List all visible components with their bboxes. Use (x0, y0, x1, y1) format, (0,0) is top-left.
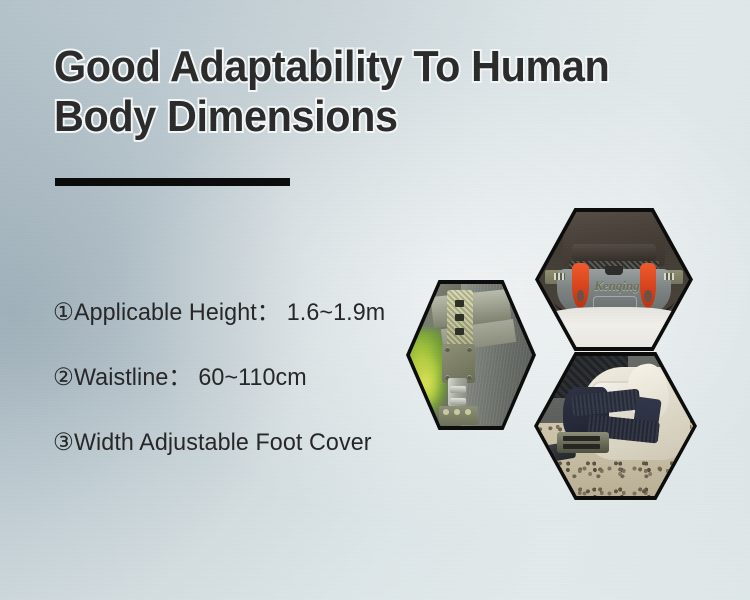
photo-bracket-slot (455, 314, 464, 321)
hex-photo-bracket (406, 280, 536, 430)
title-underline-bar (55, 178, 290, 186)
photo-bracket-bolt (465, 409, 471, 415)
feature-text-1: ①Applicable Height： 1.6~1.9m (53, 300, 385, 326)
list-item: ②Waistline： 60~110cm (53, 365, 453, 430)
feature-text-3: ③Width Adjustable Foot Cover (53, 430, 372, 456)
title-line-2: Body Dimensions (54, 92, 656, 142)
photo-waist-arm-detail (664, 273, 675, 280)
feature-text-2: ②Waistline： 60~110cm (53, 365, 307, 391)
photo-bracket-bolt (443, 409, 449, 415)
photo-waist-notch (605, 266, 623, 275)
photo-bracket-rivet (445, 347, 450, 352)
photo-bracket-image (410, 284, 532, 426)
photo-waist-brand-label: Kenqing (590, 280, 644, 296)
list-item: ①Applicable Height： 1.6~1.9m (53, 300, 453, 365)
photo-waist-pack-fold (572, 244, 656, 260)
photo-bracket-rivet (467, 375, 472, 380)
photo-waist-white-shirt (545, 307, 683, 348)
hex-photo-foot-cover-inner (538, 356, 693, 496)
hex-photo-waist-support-inner: Kenqing (539, 212, 689, 347)
photo-bracket-slot (455, 300, 464, 307)
hexagon-photo-cluster: Kenqing (400, 195, 720, 515)
list-item: ③Width Adjustable Foot Cover (53, 430, 453, 495)
hex-photo-bracket-inner (410, 284, 532, 426)
photo-bracket-slot (455, 328, 464, 335)
hex-photo-foot-cover (534, 352, 697, 500)
photo-foot-bracket (557, 432, 610, 453)
title-line-1: Good Adaptability To Human (54, 42, 656, 92)
photo-waist-support-image: Kenqing (539, 212, 689, 347)
product-feature-banner: Good Adaptability To Human Body Dimensio… (0, 0, 750, 600)
photo-foot-cover-image (538, 356, 693, 496)
photo-foot-bracket-slot (563, 444, 600, 449)
photo-bracket-foliage-2 (412, 358, 439, 406)
photo-bracket-hook (450, 386, 466, 393)
photo-waist-arm-detail (554, 273, 565, 280)
photo-bracket-hook (450, 398, 466, 405)
page-title: Good Adaptability To Human Body Dimensio… (54, 42, 694, 142)
photo-bracket-bolt (454, 409, 460, 415)
feature-list: ①Applicable Height： 1.6~1.9m ②Waistline：… (53, 300, 453, 495)
hex-photo-waist-support: Kenqing (535, 208, 693, 351)
photo-foot-bracket-slot (563, 436, 600, 441)
